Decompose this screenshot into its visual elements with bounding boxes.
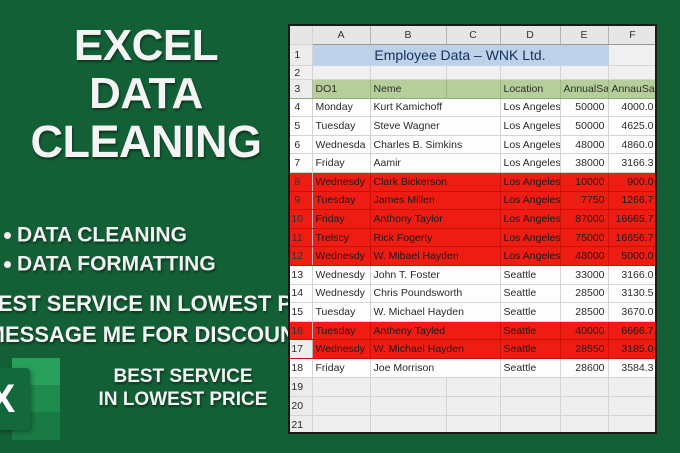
- hero-line-1: EXCEL: [0, 24, 292, 67]
- cell-a[interactable]: [312, 396, 370, 415]
- cell-annual[interactable]: 48000: [560, 135, 608, 154]
- row-header-4[interactable]: 4: [290, 98, 312, 117]
- row-header-8[interactable]: 8: [290, 173, 312, 192]
- cell-f[interactable]: [608, 377, 657, 396]
- table-row[interactable]: 6WednesdaCharles B. SimkinsLos Angeles48…: [290, 135, 657, 154]
- table-row[interactable]: 15TuesdayW. Michael HaydenSeattle2850036…: [290, 303, 657, 322]
- cell-location[interactable]: Seattle: [500, 284, 560, 303]
- header-cell-blank[interactable]: [446, 80, 500, 99]
- cell-day[interactable]: Friday: [312, 210, 370, 229]
- cell-day[interactable]: Monday: [312, 98, 370, 117]
- cell-location[interactable]: Los Angeles: [500, 117, 560, 136]
- cell-day[interactable]: Wednesdy: [312, 340, 370, 359]
- cell-annual[interactable]: 28600: [560, 359, 608, 378]
- cell-salary[interactable]: 16665.7: [608, 210, 657, 229]
- table-row[interactable]: 16TuesdayAntheny TayledSeattle400006666.…: [290, 321, 657, 340]
- header-cell-day[interactable]: DO1: [312, 80, 370, 99]
- row-header-7[interactable]: 7: [290, 154, 312, 173]
- cell-name[interactable]: Chris Poundsworth: [370, 284, 500, 303]
- cell-d[interactable]: [500, 377, 560, 396]
- table-row[interactable]: 13WednesdyJohn T. FosterSeattle330003166…: [290, 266, 657, 285]
- cell-name[interactable]: Rick Fogerty: [370, 228, 500, 247]
- cell-name[interactable]: W. Mibael Hayden: [370, 247, 500, 266]
- row-header-20[interactable]: 20: [290, 396, 312, 415]
- feature-bullet-data-cleaning: DATA CLEANING: [4, 223, 187, 247]
- cell-c[interactable]: [446, 396, 500, 415]
- header-cell-name[interactable]: Neme: [370, 80, 446, 99]
- cell-annual[interactable]: 28550: [560, 340, 608, 359]
- cell-f1[interactable]: [608, 45, 657, 66]
- cell-salary[interactable]: 900.0: [608, 173, 657, 192]
- cell-day[interactable]: Trelscy: [312, 228, 370, 247]
- cell-salary[interactable]: 4625.0: [608, 117, 657, 136]
- cell-a[interactable]: [312, 377, 370, 396]
- column-header-d[interactable]: D: [500, 26, 560, 45]
- cell-salary[interactable]: 5000.0: [608, 247, 657, 266]
- cell-day[interactable]: Tuesday: [312, 321, 370, 340]
- header-cell-annual-salary-2[interactable]: AnnauSalar: [608, 80, 657, 99]
- cell-annual[interactable]: 28500: [560, 284, 608, 303]
- cell-f2[interactable]: [608, 66, 657, 80]
- cell-b2[interactable]: [370, 66, 446, 80]
- cell-annual[interactable]: 33000: [560, 266, 608, 285]
- hero-line-2: DATA: [0, 72, 292, 115]
- cell-name[interactable]: W. Michael Hayden: [370, 340, 500, 359]
- table-row[interactable]: 14WednesdyChris PoundsworthSeattle285003…: [290, 284, 657, 303]
- cell-e[interactable]: [560, 377, 608, 396]
- cell-day[interactable]: Tuesday: [312, 303, 370, 322]
- cell-location[interactable]: Seattle: [500, 359, 560, 378]
- cell-name[interactable]: Aamir: [370, 154, 500, 173]
- cell-location[interactable]: Seattle: [500, 266, 560, 285]
- row-header-15[interactable]: 15: [290, 303, 312, 322]
- table-row[interactable]: 18FridayJoe MorrisonSeattle286003584.3: [290, 359, 657, 378]
- table-header-row[interactable]: 3DO1NemeLocationAnnualSaAnnauSalar: [290, 80, 657, 99]
- cell-location[interactable]: Los Angeles: [500, 173, 560, 192]
- table-row[interactable]: 1Employee Data – WNK Ltd.: [290, 45, 657, 66]
- cell-name[interactable]: Steve Wagner: [370, 117, 500, 136]
- cell-salary[interactable]: 3166.0: [608, 266, 657, 285]
- bullet-dot-icon: [4, 232, 11, 239]
- cell-location[interactable]: Los Angeles: [500, 228, 560, 247]
- row-header-1[interactable]: 1: [290, 45, 312, 66]
- feature-bullet-data-formatting: DATA FORMATTING: [4, 252, 216, 276]
- cell-name[interactable]: Antheny Tayled: [370, 321, 500, 340]
- table-row[interactable]: 17WednesdyW. Michael HaydenSeattle285503…: [290, 340, 657, 359]
- cell-salary[interactable]: 4000.0: [608, 98, 657, 117]
- table-row[interactable]: 8WednesdyClark BickersonLos Angeles10000…: [290, 173, 657, 192]
- row-header-11[interactable]: 11: [290, 228, 312, 247]
- column-header-f[interactable]: F: [608, 26, 657, 45]
- cell-salary[interactable]: 3130.5: [608, 284, 657, 303]
- select-all-corner[interactable]: [290, 26, 312, 45]
- tagline-best-service: BEST SERVICE IN LOWEST PRICE: [0, 291, 292, 317]
- cell-location[interactable]: Seattle: [500, 321, 560, 340]
- column-header-b[interactable]: B: [370, 26, 446, 45]
- row-header-17[interactable]: 17: [290, 340, 312, 359]
- cell-salary[interactable]: 3584.3: [608, 359, 657, 378]
- cell-c2[interactable]: [446, 66, 500, 80]
- cell-c[interactable]: [446, 377, 500, 396]
- excel-logo-letter: X: [0, 379, 30, 419]
- cell-name[interactable]: Joe Morrison: [370, 359, 500, 378]
- cell-annual[interactable]: 7750: [560, 191, 608, 210]
- cell-annual[interactable]: 87000: [560, 210, 608, 229]
- cell-day[interactable]: Tuesday: [312, 117, 370, 136]
- cell-location[interactable]: Los Angeles: [500, 154, 560, 173]
- cell-location[interactable]: Seattle: [500, 340, 560, 359]
- sheet-title-cell[interactable]: Employee Data – WNK Ltd.: [312, 45, 608, 66]
- cell-annual[interactable]: 38000: [560, 154, 608, 173]
- cell-salary[interactable]: 3185.0: [608, 340, 657, 359]
- cell-annual[interactable]: 75000: [560, 228, 608, 247]
- row-header-18[interactable]: 18: [290, 359, 312, 378]
- cell-f[interactable]: [608, 415, 657, 434]
- cell-b[interactable]: [370, 377, 446, 396]
- cell-b[interactable]: [370, 396, 446, 415]
- cell-f[interactable]: [608, 396, 657, 415]
- cell-day[interactable]: Wednesda: [312, 135, 370, 154]
- row-header-10[interactable]: 10: [290, 210, 312, 229]
- row-header-2[interactable]: 2: [290, 66, 312, 80]
- row-header-21[interactable]: 21: [290, 415, 312, 434]
- row-header-3[interactable]: 3: [290, 80, 312, 99]
- cell-day[interactable]: Friday: [312, 154, 370, 173]
- cell-d2[interactable]: [500, 66, 560, 80]
- table-row[interactable]: 5TuesdaySteve WagnerLos Angeles500004625…: [290, 117, 657, 136]
- table-row[interactable]: 9TuesdayJames MillenLos Angeles77501266.…: [290, 191, 657, 210]
- cell-day[interactable]: Wednesdy: [312, 247, 370, 266]
- cell-salary[interactable]: 3166.3: [608, 154, 657, 173]
- cell-name[interactable]: Anthony Taylor: [370, 210, 500, 229]
- cell-location[interactable]: Los Angeles: [500, 191, 560, 210]
- column-header-e[interactable]: E: [560, 26, 608, 45]
- table-row[interactable]: 4MondayKurt KamichoffLos Angeles50000400…: [290, 98, 657, 117]
- row-header-5[interactable]: 5: [290, 117, 312, 136]
- cell-annual[interactable]: 10000: [560, 173, 608, 192]
- cell-location[interactable]: Los Angeles: [500, 210, 560, 229]
- column-header-c[interactable]: C: [446, 26, 500, 45]
- table-row[interactable]: 2: [290, 66, 657, 80]
- cell-day[interactable]: Tuesday: [312, 191, 370, 210]
- cell-location[interactable]: Los Angeles: [500, 247, 560, 266]
- cell-b[interactable]: [370, 415, 446, 434]
- row-header-16[interactable]: 16: [290, 321, 312, 340]
- row-header-14[interactable]: 14: [290, 284, 312, 303]
- excel-logo-tile: X: [0, 368, 30, 430]
- tagline-message-discount: MESSAGE ME FOR DISCOUNT: [0, 322, 292, 348]
- cell-day[interactable]: Wednesdy: [312, 173, 370, 192]
- cell-location[interactable]: Los Angeles: [500, 98, 560, 117]
- cell-salary[interactable]: 16656.7: [608, 228, 657, 247]
- row-header-6[interactable]: 6: [290, 135, 312, 154]
- table-row-empty[interactable]: 20: [290, 396, 657, 415]
- cell-name[interactable]: Kurt Kamichoff: [370, 98, 500, 117]
- row-header-9[interactable]: 9: [290, 191, 312, 210]
- cell-d[interactable]: [500, 415, 560, 434]
- cell-day[interactable]: Wednesdy: [312, 284, 370, 303]
- column-header-a[interactable]: A: [312, 26, 370, 45]
- header-cell-location[interactable]: Location: [500, 80, 560, 99]
- cell-e[interactable]: [560, 415, 608, 434]
- row-header-19[interactable]: 19: [290, 377, 312, 396]
- cell-annual[interactable]: 50000: [560, 117, 608, 136]
- table-row[interactable]: 10FridayAnthony TaylorLos Angeles8700016…: [290, 210, 657, 229]
- cell-annual[interactable]: 48000: [560, 247, 608, 266]
- table-row-empty[interactable]: 21: [290, 415, 657, 434]
- spreadsheet[interactable]: A B C D E F 1Employee Data – WNK Ltd.23D…: [288, 24, 657, 434]
- cell-location[interactable]: Seattle: [500, 303, 560, 322]
- cell-e2[interactable]: [560, 66, 608, 80]
- row-header-12[interactable]: 12: [290, 247, 312, 266]
- table-row-empty[interactable]: 19: [290, 377, 657, 396]
- bottom-tagline-1: BEST SERVICE: [88, 366, 278, 388]
- cell-name[interactable]: John T. Foster: [370, 266, 500, 285]
- cell-a[interactable]: [312, 415, 370, 434]
- cell-e[interactable]: [560, 396, 608, 415]
- spreadsheet-grid[interactable]: A B C D E F 1Employee Data – WNK Ltd.23D…: [290, 26, 657, 434]
- cell-name[interactable]: Charles B. Simkins: [370, 135, 500, 154]
- cell-name[interactable]: Clark Bickerson: [370, 173, 500, 192]
- cell-name[interactable]: James Millen: [370, 191, 500, 210]
- cell-day[interactable]: Friday: [312, 359, 370, 378]
- cell-salary[interactable]: 6666.7: [608, 321, 657, 340]
- table-row[interactable]: 12WednesdyW. Mibael HaydenLos Angeles480…: [290, 247, 657, 266]
- cell-d[interactable]: [500, 396, 560, 415]
- cell-c[interactable]: [446, 415, 500, 434]
- spreadsheet-body[interactable]: 1Employee Data – WNK Ltd.23DO1NemeLocati…: [290, 45, 657, 434]
- cell-annual[interactable]: 50000: [560, 98, 608, 117]
- excel-logo: X: [0, 356, 62, 444]
- cell-salary[interactable]: 4860.0: [608, 135, 657, 154]
- cell-annual[interactable]: 28500: [560, 303, 608, 322]
- cell-name[interactable]: W. Michael Hayden: [370, 303, 500, 322]
- feature-bullet-label: DATA CLEANING: [17, 223, 187, 246]
- bullet-dot-icon: [4, 261, 11, 268]
- header-cell-annual-salary[interactable]: AnnualSa: [560, 80, 608, 99]
- cell-salary[interactable]: 1266.7: [608, 191, 657, 210]
- cell-location[interactable]: Los Angeles: [500, 135, 560, 154]
- promo-panel: EXCEL DATA CLEANING DATA CLEANING DATA F…: [0, 0, 292, 453]
- cell-annual[interactable]: 40000: [560, 321, 608, 340]
- cell-salary[interactable]: 3670.0: [608, 303, 657, 322]
- cell-day[interactable]: Wednesdy: [312, 266, 370, 285]
- table-row[interactable]: 11TrelscyRick FogertyLos Angeles75000166…: [290, 228, 657, 247]
- table-row[interactable]: 7FridayAamirLos Angeles380003166.3: [290, 154, 657, 173]
- feature-bullet-label: DATA FORMATTING: [17, 252, 216, 275]
- hero-line-3: CLEANING: [0, 120, 292, 164]
- row-header-13[interactable]: 13: [290, 266, 312, 285]
- cell-a2[interactable]: [312, 66, 370, 80]
- bottom-tagline-2: IN LOWEST PRICE: [88, 389, 278, 411]
- column-header-row: A B C D E F: [290, 26, 657, 45]
